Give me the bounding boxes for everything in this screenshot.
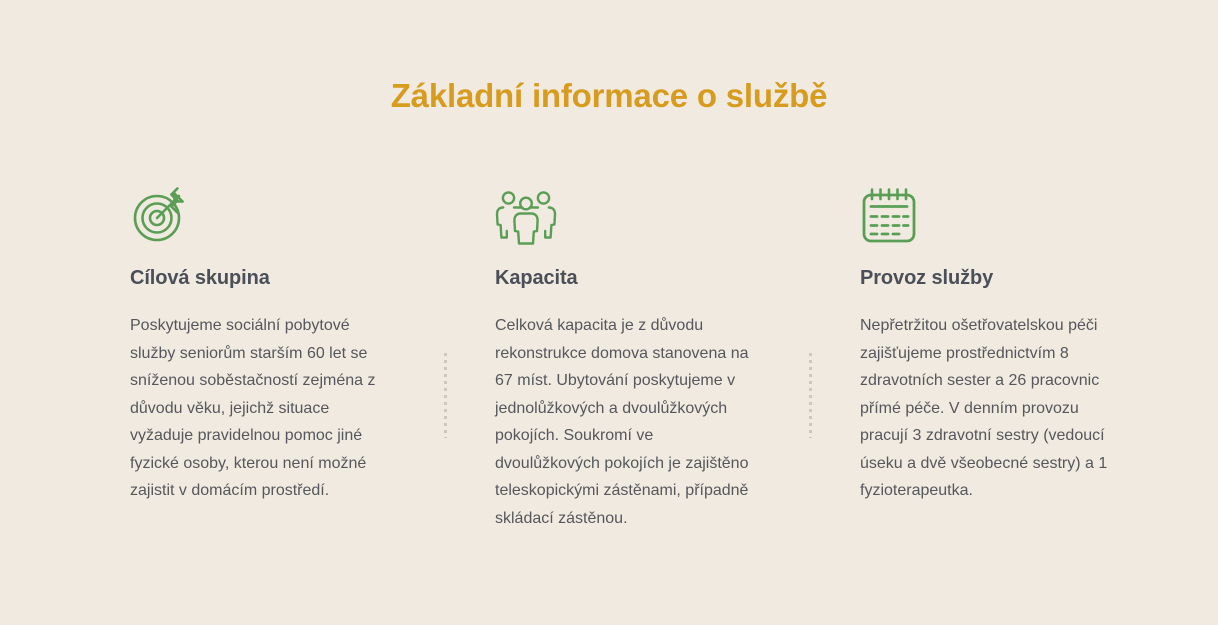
info-card-body: Celková kapacita je z důvodu rekonstrukc… [495,312,753,532]
info-card-title: Cílová skupina [130,267,403,290]
info-columns: Cílová skupina Poskytujeme sociální poby… [113,185,1143,532]
info-card-capacity: Kapacita Celková kapacita je z důvodu re… [478,185,778,532]
column-divider-2 [778,185,843,532]
info-card-title: Kapacita [495,267,768,290]
calendar-icon [860,185,1133,247]
dotted-line [809,353,812,438]
info-section: Základní informace o službě Cílová skupi… [0,0,1218,625]
page-title: Základní informace o službě [0,77,1218,115]
people-group-icon [495,185,768,247]
info-card-body: Poskytujeme sociální pobytové služby sen… [130,312,388,505]
info-card-title: Provoz služby [860,267,1133,290]
info-card-operation: Provoz služby Nepřetržitou ošetřovatelsk… [843,185,1143,505]
info-card-body: Nepřetržitou ošetřovatelskou péči zajišť… [860,312,1118,505]
dotted-line [444,353,447,438]
column-divider-1 [413,185,478,532]
info-card-target-group: Cílová skupina Poskytujeme sociální poby… [113,185,413,505]
target-arrow-icon [130,185,403,247]
